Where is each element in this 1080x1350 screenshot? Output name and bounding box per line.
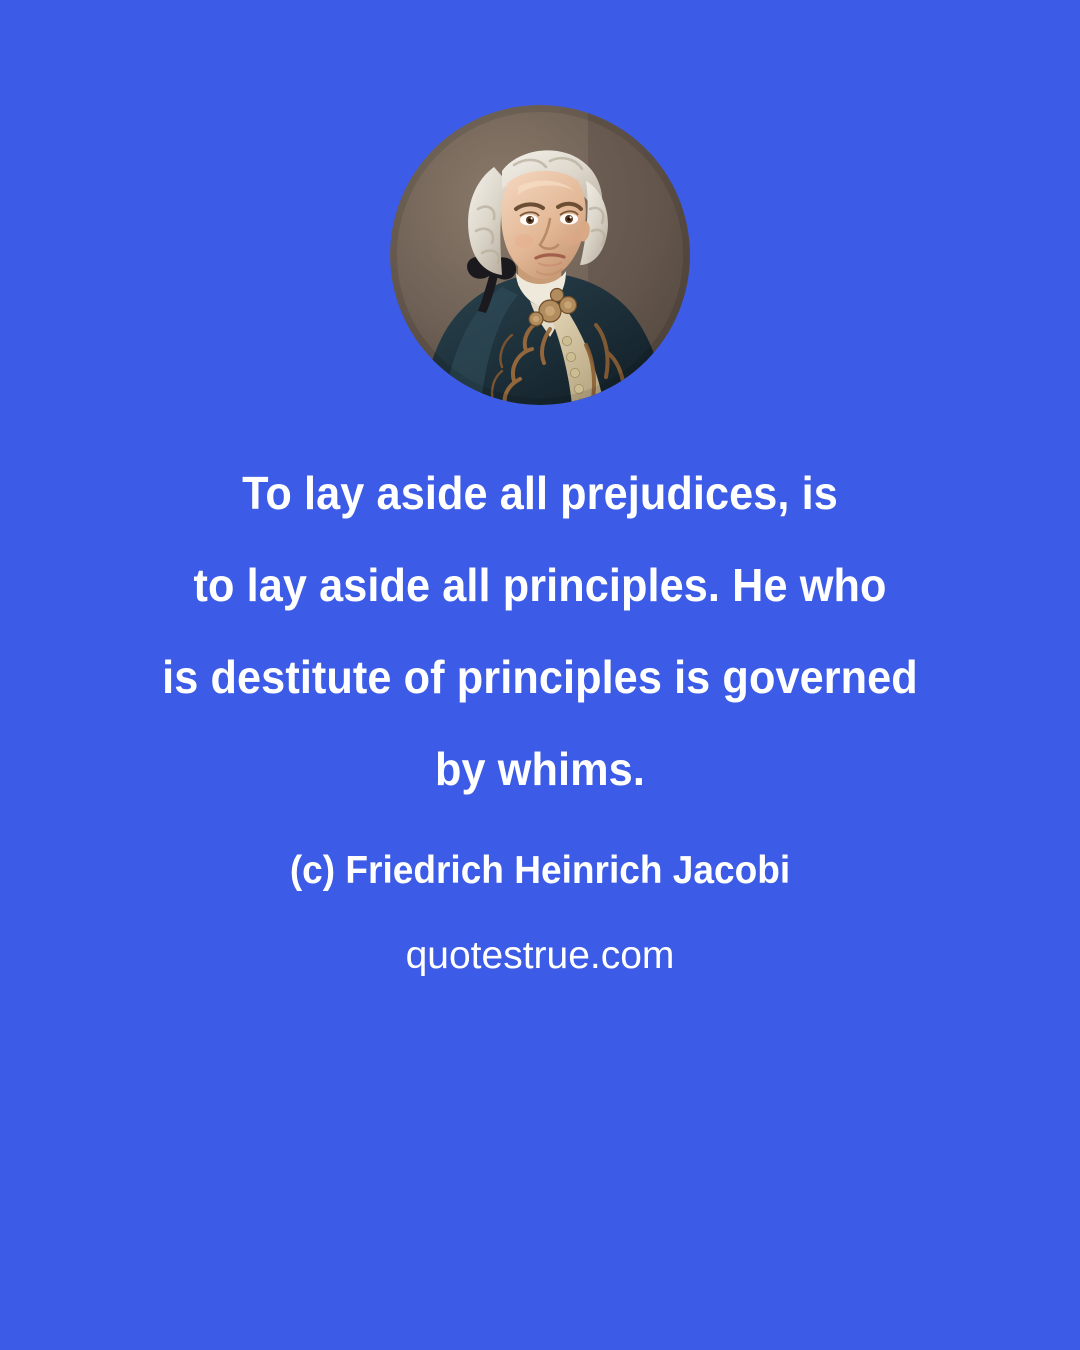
quote-attribution: (c) Friedrich Heinrich Jacobi (27, 843, 1053, 899)
quote-line: to lay aside all principles. He who (136, 539, 944, 631)
quote-line: by whims. (136, 723, 944, 815)
quote-card: To lay aside all prejudices, is to lay a… (0, 0, 1080, 1350)
philosopher-portrait (390, 105, 690, 405)
quote-text: To lay aside all prejudices, is to lay a… (110, 447, 970, 815)
quote-line: is destitute of principles is governed (136, 631, 944, 723)
portrait-image (390, 105, 690, 405)
site-watermark: quotestrue.com (0, 928, 1080, 984)
quote-line: To lay aside all prejudices, is (136, 447, 944, 539)
